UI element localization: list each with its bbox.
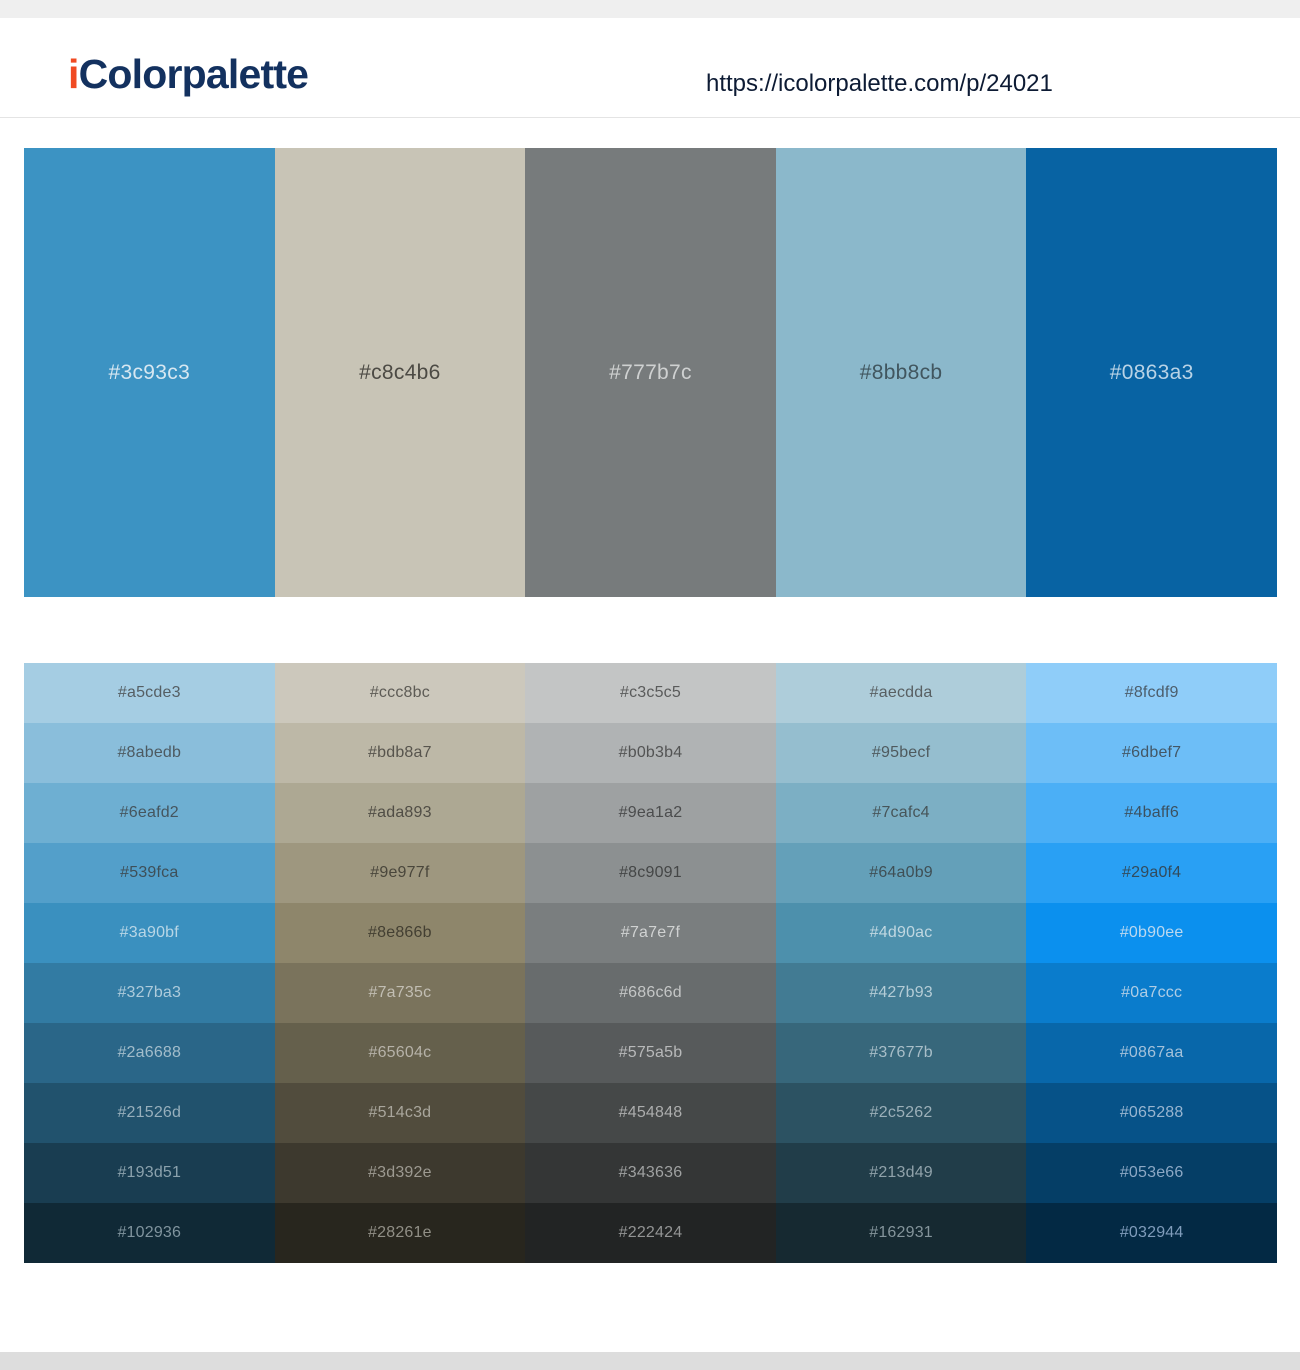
shade-hex-label: #bdb8a7	[368, 745, 432, 761]
palette-swatch[interactable]: #8bb8cb	[776, 148, 1027, 597]
shade-cell[interactable]: #aecdda	[776, 663, 1027, 723]
top-gray-strip	[0, 0, 1300, 18]
shade-hex-label: #0a7ccc	[1121, 985, 1182, 1001]
shade-cell[interactable]: #37677b	[776, 1023, 1027, 1083]
shade-hex-label: #102936	[117, 1225, 181, 1241]
palette-swatch-hex-label: #c8c4b6	[359, 362, 441, 383]
shade-hex-label: #514c3d	[368, 1105, 431, 1121]
shade-cell[interactable]: #7a7e7f	[525, 903, 776, 963]
shade-hex-label: #6eafd2	[120, 805, 179, 821]
shade-hex-label: #454848	[619, 1105, 683, 1121]
shade-cell[interactable]: #454848	[525, 1083, 776, 1143]
shade-hex-label: #21526d	[117, 1105, 181, 1121]
shade-cell[interactable]: #686c6d	[525, 963, 776, 1023]
shade-cell[interactable]: #64a0b9	[776, 843, 1027, 903]
shade-cell[interactable]: #162931	[776, 1203, 1027, 1263]
shade-hex-label: #213d49	[869, 1165, 933, 1181]
shade-cell[interactable]: #0b90ee	[1026, 903, 1277, 963]
shade-cell[interactable]: #6dbef7	[1026, 723, 1277, 783]
shade-hex-label: #539fca	[120, 865, 178, 881]
shade-cell[interactable]: #28261e	[275, 1203, 526, 1263]
shade-hex-label: #8e866b	[368, 925, 432, 941]
shade-hex-label: #7a735c	[368, 985, 431, 1001]
shade-hex-label: #4d90ac	[870, 925, 933, 941]
shade-hex-label: #29a0f4	[1122, 865, 1181, 881]
shade-hex-label: #65604c	[368, 1045, 431, 1061]
shade-column: #a5cde3#8abedb#6eafd2#539fca#3a90bf#327b…	[24, 663, 275, 1263]
shade-hex-label: #a5cde3	[118, 685, 181, 701]
shade-hex-label: #aecdda	[870, 685, 933, 701]
shade-cell[interactable]: #343636	[525, 1143, 776, 1203]
shade-cell[interactable]: #514c3d	[275, 1083, 526, 1143]
shade-hex-label: #222424	[619, 1225, 683, 1241]
shade-cell[interactable]: #327ba3	[24, 963, 275, 1023]
shade-hex-label: #37677b	[869, 1045, 933, 1061]
shade-cell[interactable]: #2c5262	[776, 1083, 1027, 1143]
shade-cell[interactable]: #193d51	[24, 1143, 275, 1203]
shade-hex-label: #327ba3	[117, 985, 181, 1001]
palette-swatch-hex-label: #8bb8cb	[860, 362, 943, 383]
palette-swatch-hex-label: #777b7c	[609, 362, 692, 383]
shade-cell[interactable]: #3a90bf	[24, 903, 275, 963]
shade-cell[interactable]: #8abedb	[24, 723, 275, 783]
shade-hex-label: #3d392e	[368, 1165, 432, 1181]
shade-cell[interactable]: #95becf	[776, 723, 1027, 783]
shade-cell[interactable]: #65604c	[275, 1023, 526, 1083]
shade-hex-label: #c3c5c5	[620, 685, 681, 701]
shade-cell[interactable]: #427b93	[776, 963, 1027, 1023]
shade-cell[interactable]: #065288	[1026, 1083, 1277, 1143]
shade-hex-label: #053e66	[1120, 1165, 1184, 1181]
shade-cell[interactable]: #a5cde3	[24, 663, 275, 723]
shade-cell[interactable]: #29a0f4	[1026, 843, 1277, 903]
palette-swatch[interactable]: #777b7c	[525, 148, 776, 597]
shade-cell[interactable]: #4d90ac	[776, 903, 1027, 963]
shade-cell[interactable]: #575a5b	[525, 1023, 776, 1083]
shade-cell[interactable]: #032944	[1026, 1203, 1277, 1263]
palette-swatch[interactable]: #3c93c3	[24, 148, 275, 597]
logo-word: Colorpalette	[79, 51, 309, 97]
shade-hex-label: #9ea1a2	[619, 805, 683, 821]
shade-hex-label: #28261e	[368, 1225, 432, 1241]
shade-cell[interactable]: #213d49	[776, 1143, 1027, 1203]
shade-cell[interactable]: #bdb8a7	[275, 723, 526, 783]
shade-hex-label: #427b93	[869, 985, 933, 1001]
site-logo[interactable]: iColorpalette	[68, 54, 308, 95]
palette-swatch[interactable]: #0863a3	[1026, 148, 1277, 597]
shade-cell[interactable]: #3d392e	[275, 1143, 526, 1203]
shade-cell[interactable]: #053e66	[1026, 1143, 1277, 1203]
shade-hex-label: #8fcdf9	[1125, 685, 1179, 701]
shade-hex-label: #162931	[869, 1225, 933, 1241]
logo-accent-letter: i	[68, 51, 79, 97]
shade-hex-label: #7cafc4	[872, 805, 929, 821]
shade-cell[interactable]: #539fca	[24, 843, 275, 903]
bottom-gray-strip	[0, 1352, 1300, 1370]
shade-cell[interactable]: #b0b3b4	[525, 723, 776, 783]
shade-hex-label: #686c6d	[619, 985, 682, 1001]
shade-column: #ccc8bc#bdb8a7#ada893#9e977f#8e866b#7a73…	[275, 663, 526, 1263]
shade-hex-label: #6dbef7	[1122, 745, 1181, 761]
shade-column: #8fcdf9#6dbef7#4baff6#29a0f4#0b90ee#0a7c…	[1026, 663, 1277, 1263]
shade-cell[interactable]: #8fcdf9	[1026, 663, 1277, 723]
palette-swatch[interactable]: #c8c4b6	[275, 148, 526, 597]
shade-hex-label: #9e977f	[370, 865, 429, 881]
shade-hex-label: #575a5b	[619, 1045, 683, 1061]
shade-hex-label: #0b90ee	[1120, 925, 1184, 941]
shades-table: #a5cde3#8abedb#6eafd2#539fca#3a90bf#327b…	[24, 663, 1277, 1263]
shade-hex-label: #2c5262	[870, 1105, 933, 1121]
shade-hex-label: #95becf	[872, 745, 930, 761]
shade-cell[interactable]: #2a6688	[24, 1023, 275, 1083]
shade-hex-label: #065288	[1120, 1105, 1184, 1121]
shade-hex-label: #8c9091	[619, 865, 682, 881]
shade-cell[interactable]: #222424	[525, 1203, 776, 1263]
shade-hex-label: #343636	[619, 1165, 683, 1181]
shade-cell[interactable]: #9e977f	[275, 843, 526, 903]
shade-cell[interactable]: #0a7ccc	[1026, 963, 1277, 1023]
shade-column: #aecdda#95becf#7cafc4#64a0b9#4d90ac#427b…	[776, 663, 1027, 1263]
shade-hex-label: #0867aa	[1120, 1045, 1184, 1061]
shade-hex-label: #ccc8bc	[370, 685, 430, 701]
shade-cell[interactable]: #4baff6	[1026, 783, 1277, 843]
shade-cell[interactable]: #7cafc4	[776, 783, 1027, 843]
shade-cell[interactable]: #21526d	[24, 1083, 275, 1143]
shade-cell[interactable]: #ccc8bc	[275, 663, 526, 723]
main-palette-strip: #3c93c3#c8c4b6#777b7c#8bb8cb#0863a3	[24, 148, 1277, 597]
shade-hex-label: #032944	[1120, 1225, 1184, 1241]
shade-column: #c3c5c5#b0b3b4#9ea1a2#8c9091#7a7e7f#686c…	[525, 663, 776, 1263]
shade-cell[interactable]: #6eafd2	[24, 783, 275, 843]
shade-hex-label: #64a0b9	[869, 865, 933, 881]
shade-cell[interactable]: #7a735c	[275, 963, 526, 1023]
color-palette-page: iColorpalette https://icolorpalette.com/…	[0, 0, 1300, 1370]
shade-hex-label: #3a90bf	[120, 925, 179, 941]
shade-hex-label: #8abedb	[117, 745, 181, 761]
palette-swatch-hex-label: #3c93c3	[109, 362, 191, 383]
site-header: iColorpalette https://icolorpalette.com/…	[0, 18, 1300, 118]
shade-hex-label: #b0b3b4	[619, 745, 683, 761]
page-url: https://icolorpalette.com/p/24021	[706, 72, 1053, 96]
shade-hex-label: #4baff6	[1124, 805, 1179, 821]
palette-swatch-hex-label: #0863a3	[1110, 362, 1194, 383]
shade-cell[interactable]: #8c9091	[525, 843, 776, 903]
shade-hex-label: #2a6688	[117, 1045, 181, 1061]
shade-cell[interactable]: #9ea1a2	[525, 783, 776, 843]
shade-hex-label: #193d51	[117, 1165, 181, 1181]
shade-cell[interactable]: #c3c5c5	[525, 663, 776, 723]
shade-cell[interactable]: #8e866b	[275, 903, 526, 963]
shade-cell[interactable]: #102936	[24, 1203, 275, 1263]
shade-hex-label: #7a7e7f	[621, 925, 680, 941]
shade-hex-label: #ada893	[368, 805, 432, 821]
shade-cell[interactable]: #0867aa	[1026, 1023, 1277, 1083]
shade-cell[interactable]: #ada893	[275, 783, 526, 843]
